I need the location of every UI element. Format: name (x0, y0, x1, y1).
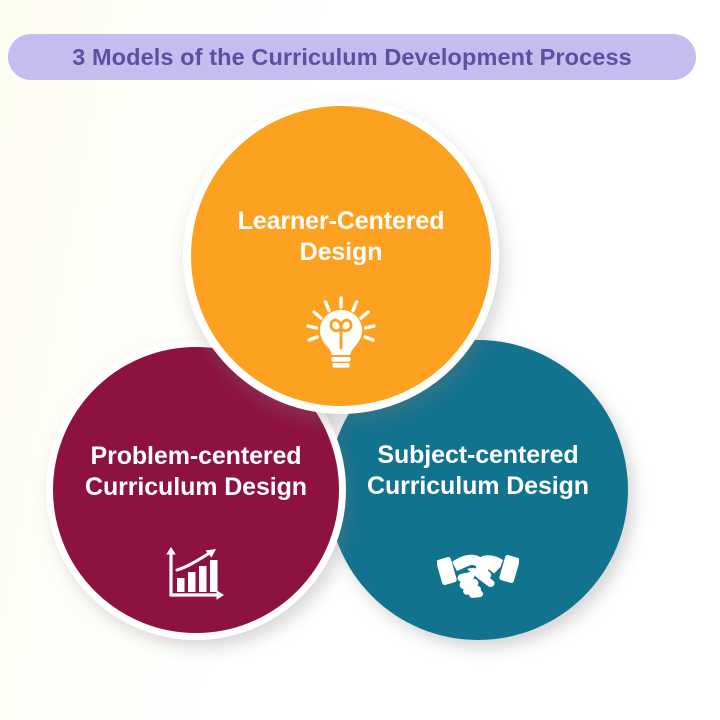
model-label-learner-centered: Learner-Centered Design (191, 206, 491, 269)
handshake-icon (328, 540, 628, 598)
model-circle-learner-centered[interactable]: Learner-Centered Design (183, 98, 499, 414)
page-title: 3 Models of the Curriculum Development P… (72, 44, 632, 71)
infographic-canvas: 3 Models of the Curriculum Development P… (0, 0, 720, 720)
growth-chart-icon (53, 543, 339, 603)
title-banner: 3 Models of the Curriculum Development P… (8, 34, 696, 80)
model-label-problem-centered: Problem-centered Curriculum Design (53, 441, 339, 504)
lightbulb-icon (191, 296, 491, 372)
model-label-subject-centered: Subject-centered Curriculum Design (328, 440, 628, 503)
